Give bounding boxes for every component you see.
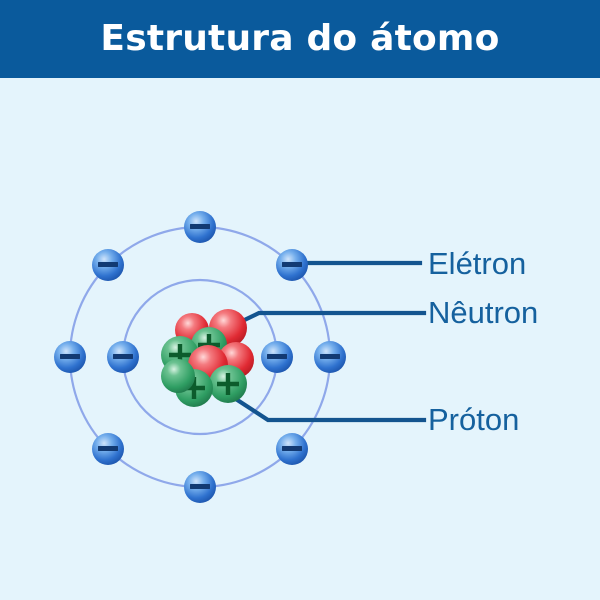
- electron: [184, 471, 216, 503]
- leader-line-proton: [222, 390, 424, 420]
- electron: [92, 249, 124, 281]
- electron: [92, 433, 124, 465]
- electron: [107, 341, 139, 373]
- leader-line-neutron: [232, 313, 424, 326]
- label-neutron: Nêutron: [428, 297, 538, 328]
- electron: [261, 341, 293, 373]
- electron: [314, 341, 346, 373]
- electron: [276, 249, 308, 281]
- proton-particle: [209, 365, 247, 403]
- electron: [54, 341, 86, 373]
- electron: [276, 433, 308, 465]
- label-proton: Próton: [428, 404, 519, 435]
- proton-particle: [161, 359, 195, 393]
- nucleus: [161, 309, 254, 407]
- electron: [184, 211, 216, 243]
- atom-infographic: Estrutura do átomo: [0, 0, 600, 600]
- label-electron: Elétron: [428, 248, 526, 279]
